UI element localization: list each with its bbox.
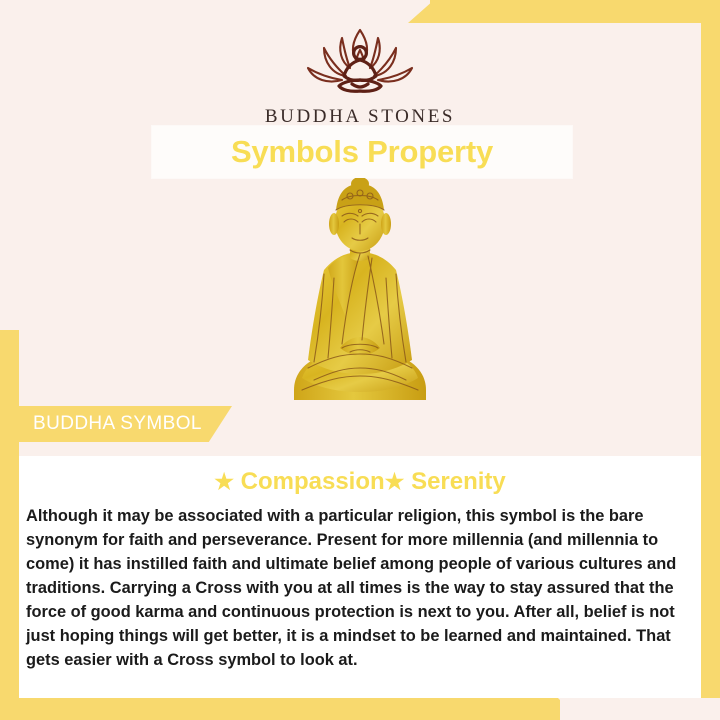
content-panel: ★ Compassion★ Serenity Although it may b…	[19, 456, 701, 698]
buddha-statue-image	[0, 178, 720, 408]
page-title: Symbols Property	[231, 134, 493, 170]
subheading-serenity: Serenity	[411, 468, 506, 495]
star-icon-2: ★	[385, 469, 405, 494]
lotus-meditation-icon	[294, 24, 426, 100]
frame-bottom-notch	[560, 698, 720, 720]
buddha-symbol-ribbon: BUDDHA SYMBOL	[0, 406, 232, 442]
content-paragraph: Although it may be associated with a par…	[26, 505, 694, 673]
brand-logo: BUDDHA STONES	[0, 24, 720, 128]
frame-top-diagonal	[408, 0, 434, 23]
frame-bottom-bar	[0, 698, 580, 720]
brand-wordmark: BUDDHA STONES	[0, 106, 720, 128]
subheading-compassion: Compassion	[241, 468, 385, 495]
golden-buddha-icon	[272, 178, 448, 408]
content-subheading: ★ Compassion★ Serenity	[19, 468, 701, 496]
star-icon-1: ★	[214, 469, 234, 494]
title-banner: Symbols Property	[152, 126, 572, 178]
poster-canvas: BUDDHA STONES Symbols Property	[0, 0, 720, 720]
frame-top-bar	[430, 0, 720, 23]
ribbon-label: BUDDHA SYMBOL	[0, 413, 202, 435]
